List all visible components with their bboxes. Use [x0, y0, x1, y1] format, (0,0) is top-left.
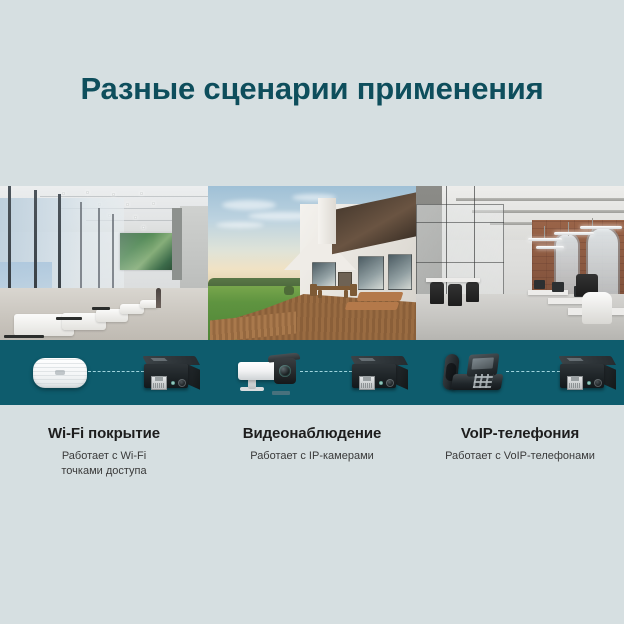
office-chair	[582, 292, 612, 324]
device-pair-wifi	[0, 340, 208, 405]
photo-office	[416, 186, 624, 340]
device-pair-voip	[416, 340, 624, 405]
sun-lounger	[345, 302, 400, 310]
caption-wifi: Wi-Fi покрытие Работает с Wi-Fi точками …	[0, 405, 208, 479]
pendant-lamp	[580, 226, 622, 229]
monitor	[552, 282, 564, 292]
chimney	[318, 198, 336, 244]
ceiling-light	[134, 216, 137, 219]
window	[388, 254, 412, 290]
ceiling-line	[40, 196, 208, 197]
partition-frame	[446, 186, 447, 308]
cloud	[222, 200, 276, 210]
light-drop	[592, 218, 593, 232]
camera-brand-logo	[272, 391, 290, 395]
partition-frame	[416, 262, 504, 263]
caption-subtitle-line: Работает с Wi-Fi	[0, 449, 208, 464]
monitor	[534, 280, 545, 289]
caption-subtitle: Работает с Wi-Fi точками доступа	[0, 449, 208, 479]
pendant-lamp	[554, 232, 594, 235]
ceiling-light	[126, 203, 129, 206]
power-jack	[178, 379, 186, 387]
caption-camera: Видеонаблюдение Работает с IP-камерами	[208, 405, 416, 479]
window	[358, 256, 384, 290]
ceiling-light	[152, 202, 155, 205]
poe-side	[603, 364, 616, 390]
captions-row: Wi-Fi покрытие Работает с Wi-Fi точками …	[0, 405, 624, 479]
pendant-lamp	[536, 246, 564, 249]
poe-label	[358, 358, 375, 361]
ceiling-beam	[456, 198, 624, 201]
cloud	[216, 222, 264, 228]
coffee-table	[92, 307, 110, 310]
ceiling-light	[86, 191, 89, 194]
device-pair-camera	[208, 340, 416, 405]
pendant-lamp	[528, 238, 562, 241]
power-jack	[594, 379, 602, 387]
ceiling-light	[62, 192, 65, 195]
photo-house-deck	[208, 186, 416, 340]
poe-side	[395, 364, 408, 390]
meeting-table	[426, 278, 480, 282]
house-scene	[208, 186, 416, 340]
poe-front	[352, 364, 396, 388]
caption-title: VoIP-телефония	[416, 425, 624, 442]
rj45-port	[567, 376, 583, 390]
wifi-access-point-icon	[33, 358, 87, 388]
table-leg	[318, 290, 322, 298]
poe-side	[187, 364, 200, 390]
caption-title: Видеонаблюдение	[208, 425, 416, 442]
caption-title: Wi-Fi покрытие	[0, 425, 208, 442]
caption-subtitle: Работает с IP-камерами	[208, 449, 416, 464]
infographic-page: Разные сценарии применения	[0, 0, 624, 624]
meeting-chair	[430, 282, 444, 304]
coffee-table	[56, 317, 82, 320]
photo-strip	[0, 186, 624, 340]
person-silhouette	[156, 288, 161, 308]
camera-lens	[274, 358, 296, 384]
wall-artwork	[120, 233, 178, 270]
caption-subtitle: Работает с VoIP-телефонами	[416, 449, 624, 464]
caption-subtitle-line: Работает с IP-камерами	[208, 449, 416, 464]
outdoor-chair	[350, 284, 357, 296]
poe-front	[144, 364, 188, 388]
ceiling-light	[142, 226, 145, 229]
page-title: Разные сценарии применения	[80, 71, 543, 107]
title-section: Разные сценарии применения	[0, 0, 624, 186]
power-jack	[386, 379, 394, 387]
planter	[284, 286, 294, 295]
caption-subtitle-line: Работает с VoIP-телефонами	[416, 449, 624, 464]
rj45-port	[359, 376, 375, 390]
partition-frame	[416, 222, 504, 223]
column	[172, 208, 182, 280]
ceiling-light	[112, 193, 115, 196]
office-scene	[416, 186, 624, 340]
status-led	[171, 381, 175, 385]
poe-front	[560, 364, 604, 388]
phone-keypad	[473, 374, 493, 388]
coffee-table	[4, 335, 44, 338]
caption-subtitle-line: точками доступа	[0, 464, 208, 479]
sun-lounger	[357, 292, 404, 301]
poe-label	[566, 358, 583, 361]
device-band	[0, 340, 624, 405]
outdoor-chair	[310, 284, 317, 296]
ceiling-light	[140, 192, 143, 195]
camera-mount	[248, 379, 256, 389]
light-drop	[544, 226, 545, 238]
poe-injector-icon	[144, 356, 200, 388]
poe-label	[150, 358, 167, 361]
connection-line	[88, 371, 144, 372]
rj45-port	[151, 376, 167, 390]
meeting-chair	[466, 282, 479, 302]
table-leg	[344, 290, 348, 298]
status-led	[379, 381, 383, 385]
caption-voip: VoIP-телефония Работает с VoIP-телефонам…	[416, 405, 624, 479]
poe-injector-icon	[560, 356, 616, 388]
photo-lobby	[0, 186, 208, 340]
status-led	[587, 381, 591, 385]
meeting-chair	[448, 284, 462, 306]
connection-line	[300, 371, 352, 372]
lobby-scene	[0, 186, 208, 340]
connection-line	[506, 371, 560, 372]
poe-injector-icon	[352, 356, 408, 388]
